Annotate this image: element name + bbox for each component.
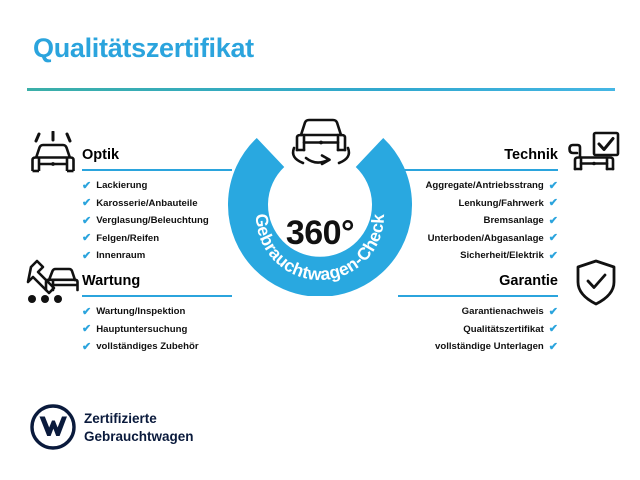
footer-brand-text: Zertifizierte Gebrauchtwagen [84,410,194,445]
check-icon: ✔ [549,198,558,209]
check-icon: ✔ [549,233,558,244]
footer-line-2: Gebrauchtwagen [84,428,194,446]
list-item: Unterboden/Abgasanlage ✔ [398,231,558,247]
car-checkbox-icon [566,130,622,183]
section-wartung-header: Wartung [82,271,232,297]
section-wartung-items: ✔ Wartung/Inspektion ✔ Hauptuntersuchung… [82,304,232,355]
list-item-label: Bremsanlage [484,213,544,229]
wrench-car-icon [23,258,81,311]
list-item-label: Garantienachweis [462,304,544,320]
check-icon: ✔ [549,342,558,353]
section-optik-items: ✔ Lackierung ✔ Karosserie/Anbauteile ✔ V… [82,178,232,264]
list-item: Aggregate/Antriebsstrang ✔ [398,178,558,194]
section-garantie-title: Garantie [499,271,558,291]
list-item-label: Verglasung/Beleuchtung [96,213,208,229]
check-icon: ✔ [549,324,558,335]
list-item: Sicherheit/Elektrik ✔ [398,248,558,264]
section-optik: Optik ✔ Lackierung ✔ Karosserie/Anbautei… [82,145,232,266]
shield-check-icon [573,258,619,313]
check-icon: ✔ [82,307,91,318]
list-item: Bremsanlage ✔ [398,213,558,229]
list-item-label: Qualitätszertifikat [463,322,544,338]
list-item-label: Lenkung/Fahrwerk [458,196,543,212]
check-icon: ✔ [82,216,91,227]
header-divider [27,88,615,91]
list-item-label: Felgen/Reifen [96,231,159,247]
section-garantie-header: Garantie [398,271,558,297]
car-shine-icon [26,131,80,182]
list-item-label: vollständige Unterlagen [435,339,544,355]
list-item-label: Hauptuntersuchung [96,322,187,338]
section-optik-header: Optik [82,145,232,171]
section-garantie-items: Garantienachweis ✔ Qualitätszertifikat ✔… [398,304,558,355]
list-item: ✔ Hauptuntersuchung [82,322,232,338]
check-icon: ✔ [82,233,91,244]
list-item-label: Lackierung [96,178,147,194]
section-garantie: Garantie Garantienachweis ✔ Qualitätszer… [398,271,558,357]
list-item: ✔ vollständiges Zubehör [82,339,232,355]
section-wartung-underline [82,295,232,298]
check-icon: ✔ [82,181,91,192]
section-technik-underline [398,169,558,172]
check-icon: ✔ [549,307,558,318]
check-icon: ✔ [82,342,91,353]
check-icon: ✔ [82,198,91,209]
list-item: vollständige Unterlagen ✔ [398,339,558,355]
list-item-label: Aggregate/Antriebsstrang [425,178,543,194]
list-item: Lenkung/Fahrwerk ✔ [398,196,558,212]
list-item: ✔ Lackierung [82,178,232,194]
list-item-label: vollständiges Zubehör [96,339,198,355]
section-technik-title: Technik [504,145,558,165]
list-item: ✔ Wartung/Inspektion [82,304,232,320]
check-icon: ✔ [82,324,91,335]
check-icon: ✔ [549,216,558,227]
certificate-page: Qualitätszertifikat Optik [0,0,640,480]
section-wartung: Wartung ✔ Wartung/Inspektion ✔ Hauptunte… [82,271,232,357]
section-technik-items: Aggregate/Antriebsstrang ✔ Lenkung/Fahrw… [398,178,558,264]
page-title: Qualitätszertifikat [33,33,254,64]
section-optik-title: Optik [82,145,232,165]
list-item-label: Karosserie/Anbauteile [96,196,197,212]
badge-360-gebrauchtwagen-check: Gebrauchtwagen-Check 360° [228,112,412,296]
car-rotate-icon [284,114,358,172]
section-technik: Technik Aggregate/Antriebsstrang ✔ Lenku… [398,145,558,266]
list-item-label: Innenraum [96,248,145,264]
footer-line-1: Zertifizierte [84,410,194,428]
list-item: ✔ Verglasung/Beleuchtung [82,213,232,229]
list-item: Garantienachweis ✔ [398,304,558,320]
list-item-label: Unterboden/Abgasanlage [428,231,544,247]
vw-logo [30,404,76,450]
list-item-label: Sicherheit/Elektrik [460,248,544,264]
list-item: Qualitätszertifikat ✔ [398,322,558,338]
check-icon: ✔ [549,251,558,262]
section-wartung-title: Wartung [82,271,232,291]
list-item: ✔ Felgen/Reifen [82,231,232,247]
list-item-label: Wartung/Inspektion [96,304,185,320]
list-item: ✔ Innenraum [82,248,232,264]
list-item: ✔ Karosserie/Anbauteile [82,196,232,212]
check-icon: ✔ [549,181,558,192]
badge-value: 360° [228,214,412,253]
check-icon: ✔ [82,251,91,262]
section-technik-header: Technik [398,145,558,171]
section-optik-underline [82,169,232,172]
section-garantie-underline [398,295,558,298]
